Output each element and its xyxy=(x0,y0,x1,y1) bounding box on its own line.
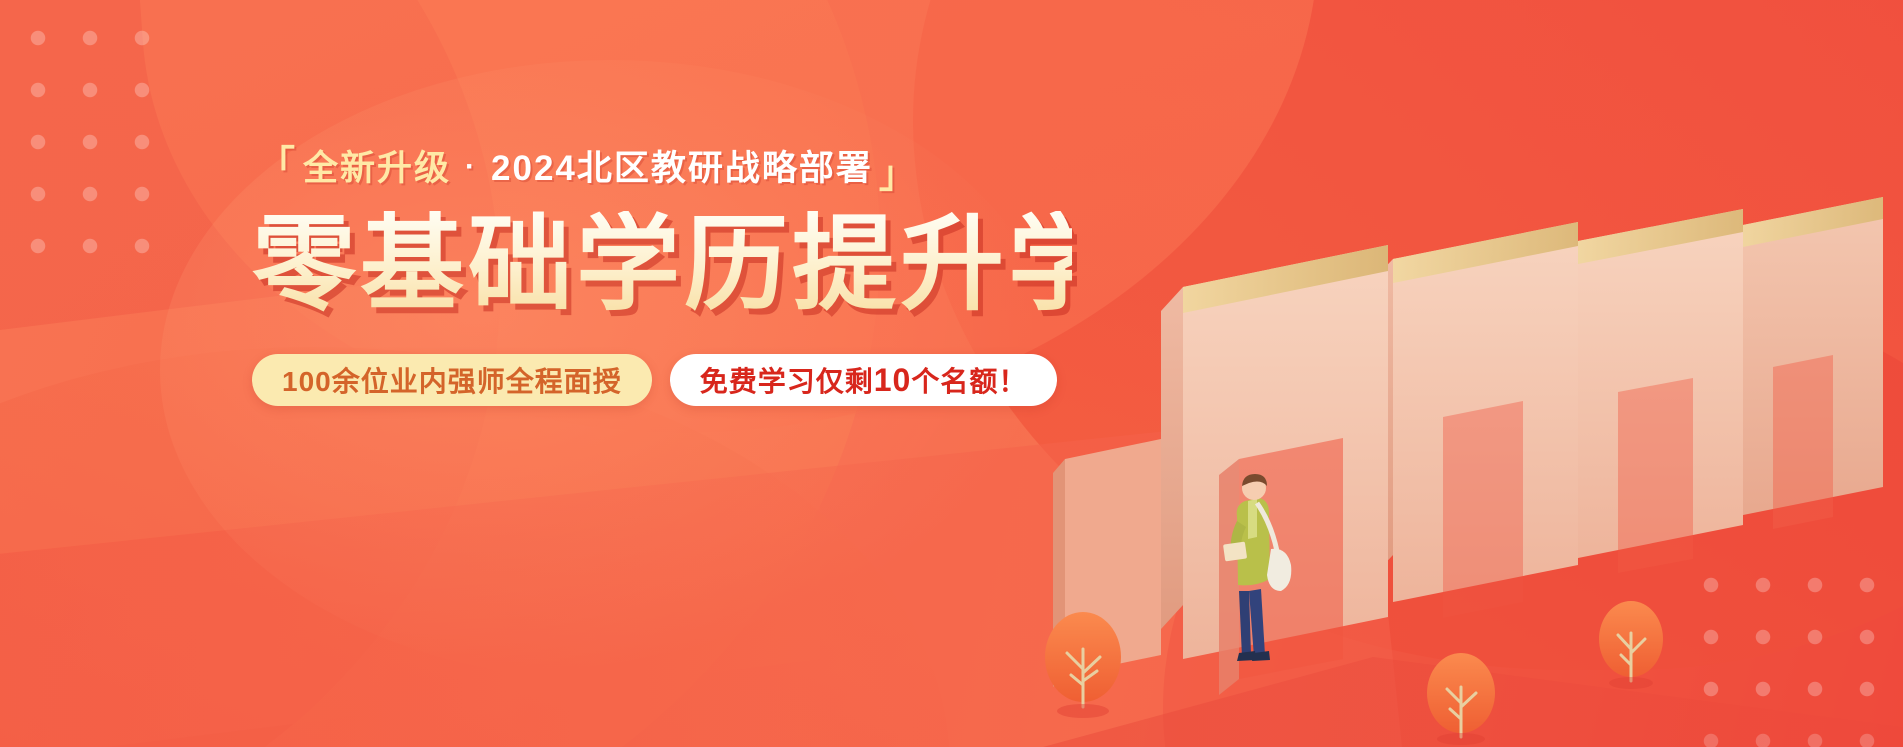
tree-mid-shadow xyxy=(1437,733,1485,745)
dot-grid-top-left xyxy=(0,0,178,272)
tree-left xyxy=(1045,612,1121,718)
bracket-left-icon: 「 xyxy=(258,146,297,183)
badge-free-slots-suffix: 个名额！ xyxy=(911,360,1027,400)
tree-left-shadow xyxy=(1057,704,1109,718)
banner-eyebrow: 「 全新升级 · 2024北区教研战略部署 」 xyxy=(252,150,1072,187)
eyebrow-highlight: 全新升级 xyxy=(303,151,451,186)
badge-teachers[interactable]: 100余位业内强师全程面授 xyxy=(252,354,652,406)
figure-held-book xyxy=(1223,542,1247,562)
badge-free-slots-count: 10 xyxy=(874,362,912,399)
banner-headline: 零基础学历提升学霸班 xyxy=(252,211,1072,320)
badge-free-slots-prefix: 免费学习仅剩 xyxy=(700,360,874,400)
bracket-right-icon: 」 xyxy=(879,156,918,193)
book-arch-3 xyxy=(1555,209,1743,573)
book-arch-2 xyxy=(1373,222,1578,618)
banner-text-block: 「 全新升级 · 2024北区教研战略部署 」 零基础学历提升学霸班 100余位… xyxy=(252,150,1072,406)
tree-right-shadow xyxy=(1609,677,1653,689)
eyebrow-separator: · xyxy=(465,152,477,182)
badge-free-slots[interactable]: 免费学习仅剩10个名额！ xyxy=(670,354,1058,406)
promo-banner: 「 全新升级 · 2024北区教研战略部署 」 零基础学历提升学霸班 100余位… xyxy=(0,0,1903,747)
eyebrow-rest: 2024北区教研战略部署 xyxy=(491,151,873,186)
tree-right xyxy=(1599,601,1663,689)
banner-badge-row: 100余位业内强师全程面授 免费学习仅剩10个名额！ xyxy=(252,354,1072,406)
